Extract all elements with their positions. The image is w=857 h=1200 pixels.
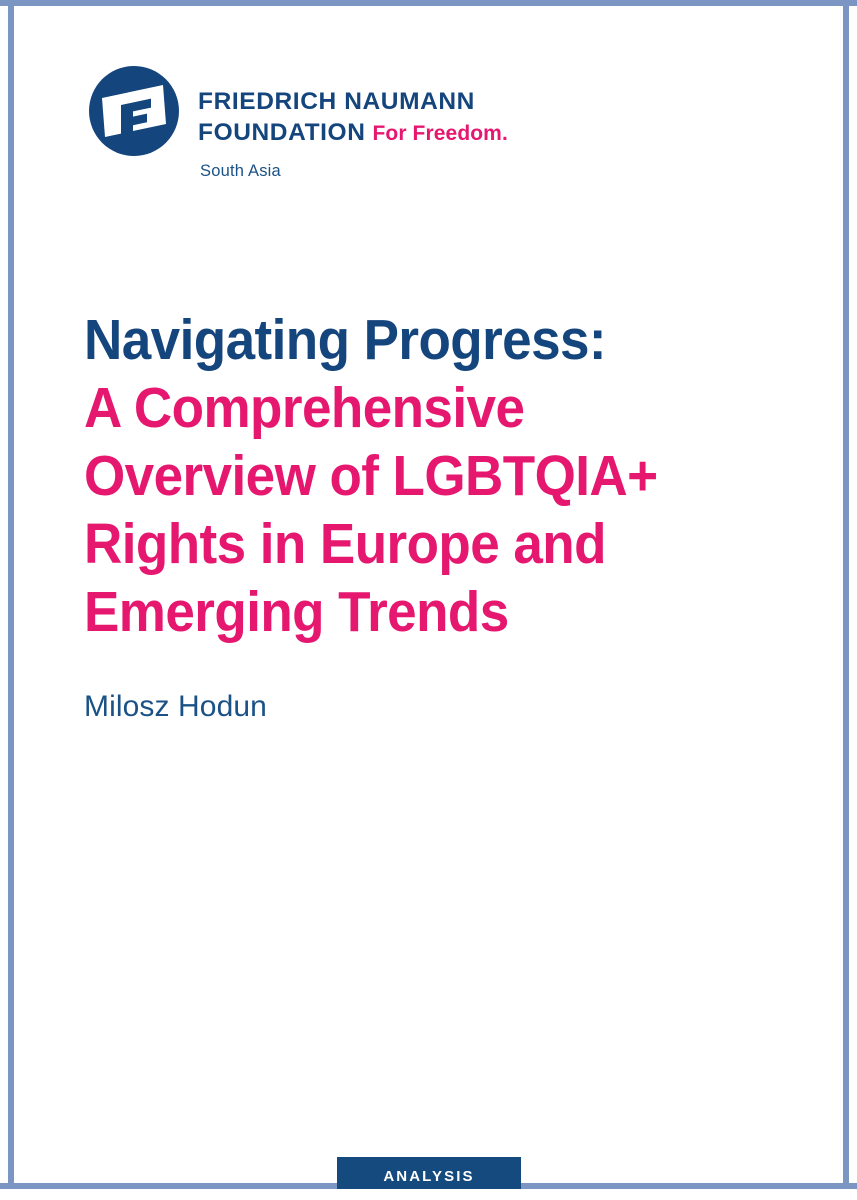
page-border-top	[0, 0, 857, 6]
brand-name-line-2: FOUNDATIONFor Freedom.	[198, 117, 508, 148]
friedrich-naumann-f-circle-logo-icon	[88, 65, 180, 157]
author-name: Milosz Hodun	[84, 690, 267, 724]
page-bottom-margin	[0, 1189, 857, 1200]
title-line-4: Rights in Europe and	[84, 510, 735, 578]
title-line-2: A Comprehensive	[84, 374, 735, 442]
brand-name-line-1: FRIEDRICH NAUMANN	[198, 86, 508, 117]
brand-tagline: For Freedom.	[373, 122, 508, 145]
category-banner-label: ANALYSIS	[383, 1168, 474, 1185]
brand-wordmark: FRIEDRICH NAUMANN FOUNDATIONFor Freedom.…	[198, 62, 508, 181]
title-line-1: Navigating Progress:	[84, 306, 735, 374]
brand-logo-block: FRIEDRICH NAUMANN FOUNDATIONFor Freedom.…	[88, 62, 508, 181]
title-line-5: Emerging Trends	[84, 578, 735, 646]
cover-page: FRIEDRICH NAUMANN FOUNDATIONFor Freedom.…	[0, 0, 857, 1200]
brand-name-foundation: FOUNDATION	[198, 119, 366, 146]
page-border-right	[843, 0, 849, 1189]
page-title: Navigating Progress: A Comprehensive Ove…	[84, 306, 784, 646]
title-line-3: Overview of LGBTQIA+	[84, 442, 735, 510]
brand-region-label: South Asia	[200, 162, 508, 181]
page-border-left	[8, 0, 14, 1189]
